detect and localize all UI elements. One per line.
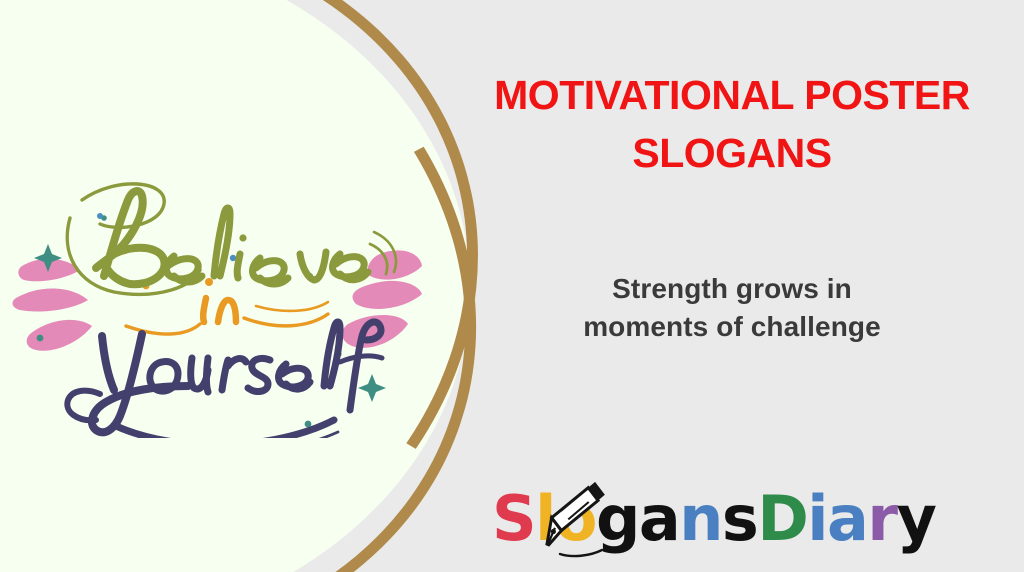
slogan-text: Strength grows in moments of challenge [440, 270, 1024, 346]
logo-letter-0: S [492, 478, 535, 560]
blue-dot [97, 213, 103, 219]
logo-letter-9: a [827, 478, 867, 560]
logo-letter-10: r [867, 478, 896, 560]
logo-letter-2: o [555, 478, 596, 560]
word-yourself [67, 322, 382, 438]
page-title: MOTIVATIONAL POSTER SLOGANS [440, 66, 1024, 182]
word-in [126, 278, 328, 334]
logo-letter-7: D [757, 478, 807, 560]
word-believe [67, 184, 396, 294]
logo-letter-8: i [807, 478, 827, 560]
right-content-column: MOTIVATIONAL POSTER SLOGANS Strength gro… [440, 0, 1024, 572]
logo-letter-11: y [896, 478, 935, 560]
believe-in-yourself-artwork [8, 158, 428, 438]
logo-letter-5: n [679, 478, 722, 560]
logo-letter-1: l [535, 478, 555, 560]
logo-letter-4: a [639, 478, 679, 560]
logo-letter-3: g [596, 478, 639, 560]
logo-letter-6: s [722, 478, 757, 560]
logo-wordmark: SlogansDiary [492, 478, 935, 560]
poster-canvas: MOTIVATIONAL POSTER SLOGANS Strength gro… [0, 0, 1024, 572]
slogansdiary-logo[interactable]: SlogansDiary [492, 478, 972, 560]
